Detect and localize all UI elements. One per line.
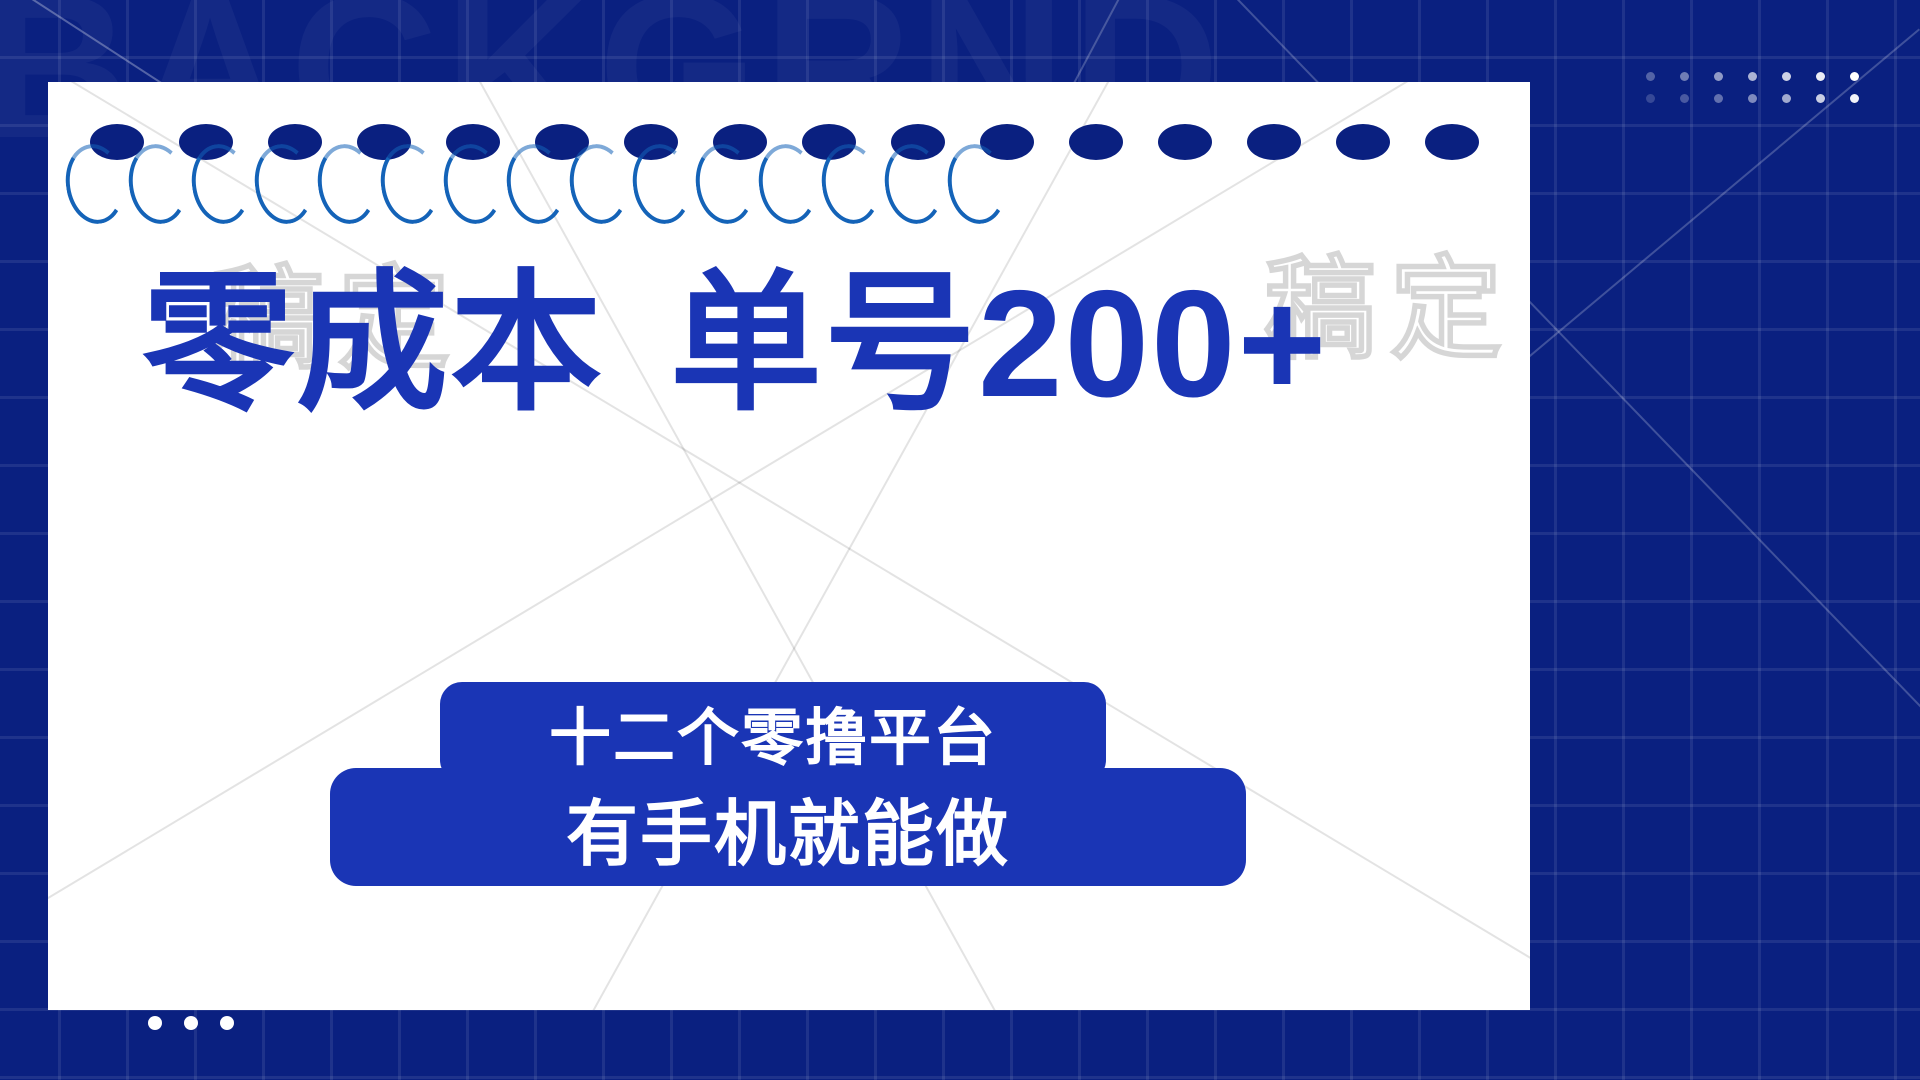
badge-phone-only-label: 有手机就能做 <box>566 775 1010 880</box>
headline: 零成本 单号200+ <box>142 252 1472 437</box>
note-card: 稿定 稿定 © <box>48 82 1530 1010</box>
binding-hole <box>1247 124 1301 160</box>
binding-hole <box>1425 124 1479 160</box>
top-right-dot-cluster <box>1646 70 1896 110</box>
binding-hole <box>1336 124 1390 160</box>
binding-hole <box>1158 124 1212 160</box>
bottom-dot <box>184 1016 198 1030</box>
poster-root: BACKGRND 稿定 稿定 © <box>0 0 1920 1080</box>
headline-part-1: 零成本 <box>142 252 604 437</box>
bottom-dot <box>220 1016 234 1030</box>
badge-phone-only[interactable]: 有手机就能做 <box>330 768 1246 886</box>
binding-hole <box>1069 124 1123 160</box>
badge-platforms-label: 十二个零撸平台 <box>549 687 997 777</box>
headline-part-2: 单号200+ <box>670 252 1328 437</box>
binding-coil <box>439 140 508 227</box>
badge-platforms[interactable]: 十二个零撸平台 <box>440 682 1106 782</box>
bottom-dot-indicator <box>148 1016 234 1030</box>
bottom-dot <box>148 1016 162 1030</box>
